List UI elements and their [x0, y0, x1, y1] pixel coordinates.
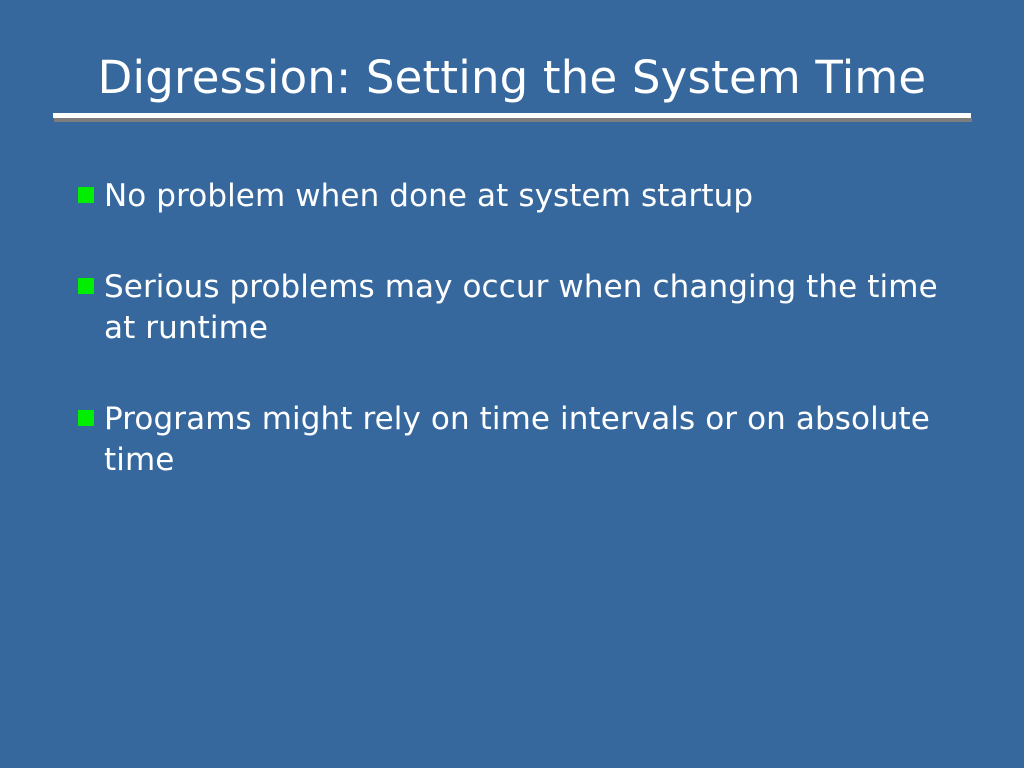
green-square-bullet-icon — [78, 410, 94, 426]
green-square-bullet-icon — [78, 278, 94, 294]
list-item-label: No problem when done at system startup — [104, 176, 938, 217]
list-item: Programs might rely on time intervals or… — [78, 399, 938, 481]
page-title: Digression: Setting the System Time — [53, 50, 971, 106]
list-item: No problem when done at system startup — [78, 176, 938, 217]
slide-body-bullet-list: No problem when done at system startup S… — [78, 176, 938, 481]
presentation-slide: Digression: Setting the System Time No p… — [0, 0, 1024, 768]
green-square-bullet-icon — [78, 187, 94, 203]
list-item-label: Serious problems may occur when changing… — [104, 267, 938, 349]
list-item-label: Programs might rely on time intervals or… — [104, 399, 938, 481]
title-underline-shadow — [54, 118, 972, 122]
slide-title-block: Digression: Setting the System Time — [53, 50, 971, 128]
list-item: Serious problems may occur when changing… — [78, 267, 938, 349]
